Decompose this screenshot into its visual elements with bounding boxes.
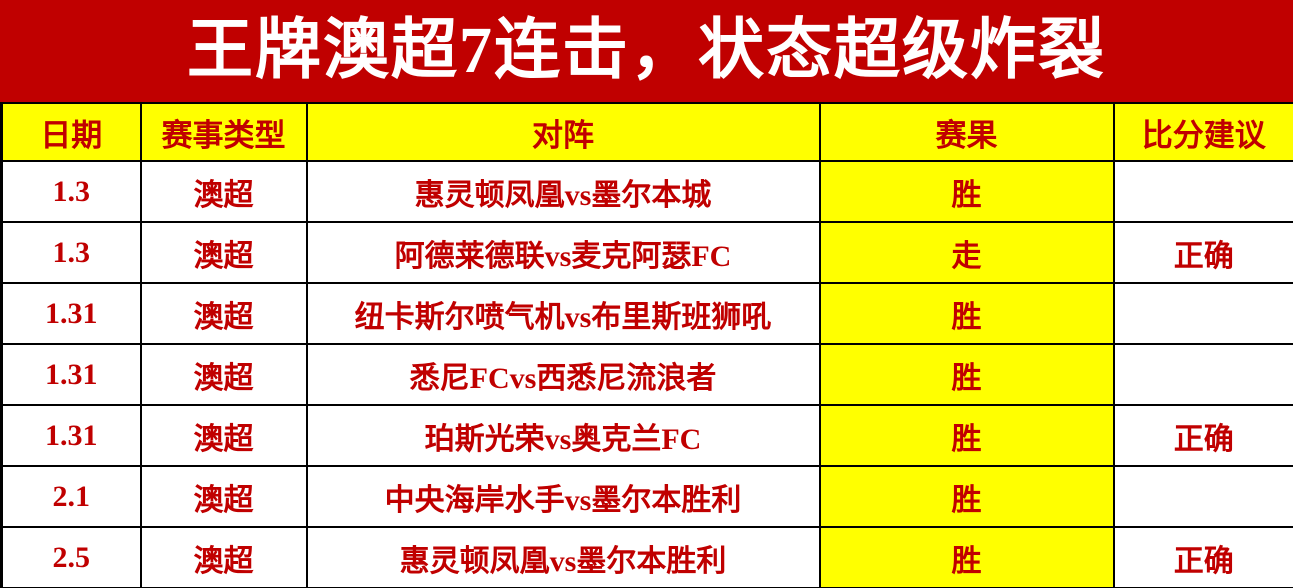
cell-advice: 正确 — [1114, 222, 1293, 283]
title-banner: 王牌澳超7连击，状态超级炸裂 — [0, 0, 1293, 102]
cell-advice: 正确 — [1114, 405, 1293, 466]
cell-result: 走 — [820, 222, 1114, 283]
cell-advice — [1114, 283, 1293, 344]
match-results-table: 日期 赛事类型 对阵 赛果 比分建议 1.3澳超惠灵顿凤凰vs墨尔本城胜1.3澳… — [0, 102, 1293, 588]
table-row: 2.1澳超中央海岸水手vs墨尔本胜利胜 — [2, 466, 1293, 527]
cell-league: 澳超 — [141, 222, 307, 283]
cell-league: 澳超 — [141, 344, 307, 405]
table-header-row: 日期 赛事类型 对阵 赛果 比分建议 — [2, 103, 1293, 161]
cell-date: 2.1 — [2, 466, 141, 527]
cell-date: 1.31 — [2, 283, 141, 344]
column-header-date: 日期 — [2, 103, 141, 161]
cell-league: 澳超 — [141, 466, 307, 527]
cell-fixture: 纽卡斯尔喷气机vs布里斯班狮吼 — [307, 283, 820, 344]
cell-advice — [1114, 161, 1293, 222]
cell-result: 胜 — [820, 405, 1114, 466]
cell-result: 胜 — [820, 344, 1114, 405]
cell-advice — [1114, 466, 1293, 527]
cell-fixture: 悉尼FCvs西悉尼流浪者 — [307, 344, 820, 405]
page-title: 王牌澳超7连击，状态超级炸裂 — [187, 18, 1106, 84]
table-row: 1.3澳超阿德莱德联vs麦克阿瑟FC走正确 — [2, 222, 1293, 283]
cell-fixture: 惠灵顿凤凰vs墨尔本胜利 — [307, 527, 820, 588]
cell-date: 1.31 — [2, 344, 141, 405]
cell-date: 1.3 — [2, 161, 141, 222]
cell-fixture: 中央海岸水手vs墨尔本胜利 — [307, 466, 820, 527]
cell-date: 1.3 — [2, 222, 141, 283]
table-body: 1.3澳超惠灵顿凤凰vs墨尔本城胜1.3澳超阿德莱德联vs麦克阿瑟FC走正确1.… — [2, 161, 1293, 588]
cell-result: 胜 — [820, 466, 1114, 527]
cell-result: 胜 — [820, 283, 1114, 344]
cell-result: 胜 — [820, 161, 1114, 222]
cell-league: 澳超 — [141, 527, 307, 588]
table-row: 1.31澳超珀斯光荣vs奥克兰FC胜正确 — [2, 405, 1293, 466]
column-header-advice: 比分建议 — [1114, 103, 1293, 161]
table-row: 1.3澳超惠灵顿凤凰vs墨尔本城胜 — [2, 161, 1293, 222]
prediction-board: 王牌澳超7连击，状态超级炸裂 日期 赛事类型 对阵 赛果 比分建议 1.3澳超惠… — [0, 0, 1293, 588]
cell-league: 澳超 — [141, 161, 307, 222]
cell-date: 2.5 — [2, 527, 141, 588]
table-row: 2.5澳超惠灵顿凤凰vs墨尔本胜利胜正确 — [2, 527, 1293, 588]
column-header-fixture: 对阵 — [307, 103, 820, 161]
table-row: 1.31澳超纽卡斯尔喷气机vs布里斯班狮吼胜 — [2, 283, 1293, 344]
column-header-league: 赛事类型 — [141, 103, 307, 161]
table-row: 1.31澳超悉尼FCvs西悉尼流浪者胜 — [2, 344, 1293, 405]
column-header-result: 赛果 — [820, 103, 1114, 161]
cell-advice: 正确 — [1114, 527, 1293, 588]
table-header: 日期 赛事类型 对阵 赛果 比分建议 — [2, 103, 1293, 161]
cell-date: 1.31 — [2, 405, 141, 466]
cell-fixture: 惠灵顿凤凰vs墨尔本城 — [307, 161, 820, 222]
cell-fixture: 阿德莱德联vs麦克阿瑟FC — [307, 222, 820, 283]
cell-league: 澳超 — [141, 405, 307, 466]
cell-result: 胜 — [820, 527, 1114, 588]
cell-fixture: 珀斯光荣vs奥克兰FC — [307, 405, 820, 466]
cell-advice — [1114, 344, 1293, 405]
cell-league: 澳超 — [141, 283, 307, 344]
